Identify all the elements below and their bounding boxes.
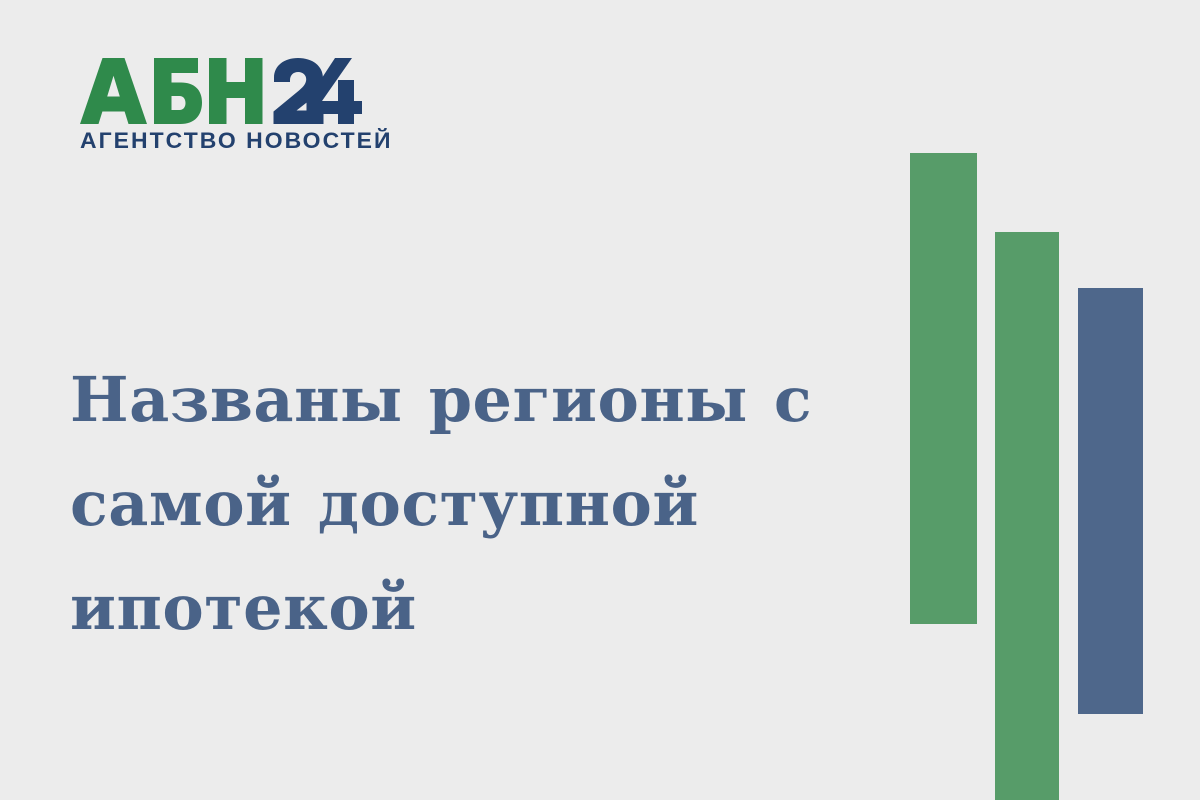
abn24-wordmark-icon [80,58,362,124]
headline: Названы регионы с самой доступной ипотек… [70,348,880,660]
news-card: АГЕНТСТВО НОВОСТЕЙ Названы регионы с сам… [0,0,1200,800]
chart-bar-1 [910,153,977,624]
abn24-logo[interactable]: АГЕНТСТВО НОВОСТЕЙ [80,58,370,158]
logo-tagline: АГЕНТСТВО НОВОСТЕЙ [80,130,376,153]
chart-bar-3 [1078,288,1143,714]
chart-bar-2 [995,232,1059,800]
